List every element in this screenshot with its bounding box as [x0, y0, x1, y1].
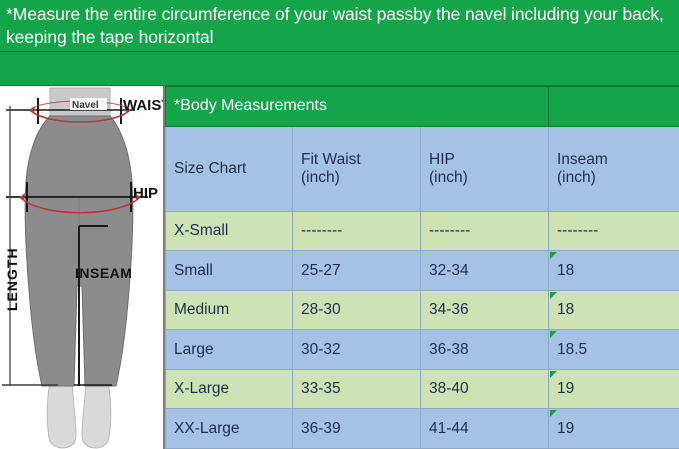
cell-size: X-Small — [166, 211, 293, 251]
measurement-illustration: Navel WAIST HIP LENGTH — [0, 86, 165, 449]
table-section-header-row: *Body Measurements — [166, 87, 679, 127]
cell-inseam: 19 — [549, 409, 679, 449]
cell-fit-waist: 30-32 — [293, 330, 421, 370]
cell-inseam: 18 — [549, 251, 679, 291]
body-measurements-header-cell: *Body Measurements — [166, 87, 549, 127]
measure-instruction-banner: *Measure the entire circumference of you… — [0, 0, 679, 52]
body-measurements-label: *Body Measurements — [174, 97, 540, 115]
cell-inseam: -------- — [549, 211, 679, 251]
cell-fit-waist: 36-39 — [293, 409, 421, 449]
cell-size: X-Large — [166, 369, 293, 409]
cell-inseam: 19 — [549, 369, 679, 409]
cell-error-marker-icon — [550, 371, 557, 378]
cell-hip: 34-36 — [421, 290, 549, 330]
measure-instruction-text: *Measure the entire circumference of you… — [6, 4, 664, 47]
cell-size: XX-Large — [166, 409, 293, 449]
header-size-chart: Size Chart — [166, 126, 293, 211]
cell-hip: 36-38 — [421, 330, 549, 370]
table-row: XX-Large 36-39 41-44 19 — [166, 409, 679, 449]
header-fit-waist: Fit Waist (inch) — [293, 126, 421, 211]
waist-label: WAIST — [123, 97, 163, 114]
navel-label: Navel — [72, 100, 99, 111]
size-chart-table: *Body Measurements Size Chart Fit Waist … — [165, 86, 679, 449]
features-banner: *Tummy Control *High Waist *Non See-Thro… — [0, 52, 679, 86]
cell-size: Small — [166, 251, 293, 291]
body-skin-shape — [47, 382, 111, 448]
table-row: Medium 28-30 34-36 18 — [166, 290, 679, 330]
cell-error-marker-icon — [550, 410, 557, 417]
cell-fit-waist: 33-35 — [293, 369, 421, 409]
cell-size: Medium — [166, 290, 293, 330]
table-row: X-Small -------- -------- -------- — [166, 211, 679, 251]
inseam-label: INSEAM — [75, 265, 132, 281]
header-hip: HIP (inch) — [421, 126, 549, 211]
cell-size: Large — [166, 330, 293, 370]
cell-inseam: 18 — [549, 290, 679, 330]
cell-hip: -------- — [421, 211, 549, 251]
table-row: Small 25-27 32-34 18 — [166, 251, 679, 291]
cell-error-marker-icon — [550, 331, 557, 338]
leggings-diagram-svg: Navel WAIST HIP LENGTH — [0, 86, 163, 449]
cell-hip: 32-34 — [421, 251, 549, 291]
table-row: Large 30-32 36-38 18.5 — [166, 330, 679, 370]
length-label: LENGTH — [4, 247, 20, 311]
cell-hip: 38-40 — [421, 369, 549, 409]
cell-fit-waist: 25-27 — [293, 251, 421, 291]
cell-error-marker-icon — [550, 252, 557, 259]
table-row: X-Large 33-35 38-40 19 — [166, 369, 679, 409]
cell-inseam: 18.5 — [549, 330, 679, 370]
header-inseam: Inseam (inch) — [549, 126, 679, 211]
section-header-blank-cell — [549, 87, 679, 127]
hip-label: HIP — [133, 185, 158, 202]
size-chart-image: *Measure the entire circumference of you… — [0, 0, 679, 449]
cell-hip: 41-44 — [421, 409, 549, 449]
table-column-header-row: Size Chart Fit Waist (inch) HIP (inch) I… — [166, 126, 679, 211]
cell-fit-waist: 28-30 — [293, 290, 421, 330]
cell-error-marker-icon — [550, 292, 557, 299]
cell-fit-waist: -------- — [293, 211, 421, 251]
